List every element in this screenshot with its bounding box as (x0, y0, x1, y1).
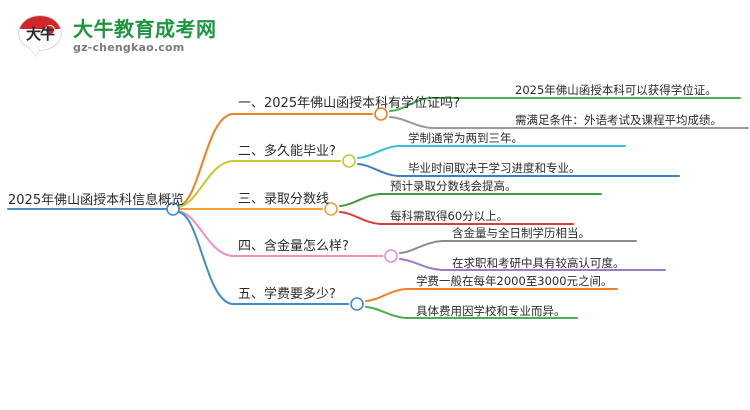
root-node-label[interactable]: 2025年佛山函授本科信息概览 (8, 192, 184, 209)
mindmap-canvas: 2025年佛山函授本科信息概览 一、2025年佛山函授本科有学位证吗? 二、多久… (0, 0, 750, 410)
branch-1-label[interactable]: 一、2025年佛山函授本科有学位证吗? (238, 95, 460, 112)
branch-2-child-1-connector (358, 146, 625, 158)
branch-2-child-2-label[interactable]: 毕业时间取决于学习进度和专业。 (408, 161, 581, 176)
branch-5-child-2-label[interactable]: 具体费用因学校和专业而异。 (416, 304, 566, 319)
branch-4-node-circle[interactable] (385, 250, 397, 262)
branch-5-child-1-connector (366, 289, 617, 301)
branch-2-child-1-label[interactable]: 学制通常为两到三年。 (408, 131, 523, 146)
branch-1-child-1-label[interactable]: 2025年佛山函授本科可以获得学位证。 (515, 83, 717, 98)
branch-5-label[interactable]: 五、学费要多少? (238, 286, 336, 303)
branch-5-node-circle[interactable] (351, 298, 363, 310)
branch-4-child-2-label[interactable]: 在求职和考研中具有较高认可度。 (452, 256, 625, 271)
branch-3-child-1-label[interactable]: 预计录取分数线会提高。 (390, 179, 517, 194)
branch-2-node-circle[interactable] (343, 155, 355, 167)
branch-3-child-1-connector (340, 194, 601, 206)
branch-1-child-2-label[interactable]: 需满足条件：外语考试及课程平均成绩。 (515, 113, 722, 128)
branch-5-child-1-label[interactable]: 学费一般在每年2000至3000元之间。 (416, 274, 613, 289)
branch-3-child-2-label[interactable]: 每科需取得60分以上。 (390, 209, 508, 224)
branch-4-child-1-label[interactable]: 含金量与全日制学历相当。 (452, 226, 590, 241)
branch-4-child-1-connector (400, 241, 636, 253)
branch-4-label[interactable]: 四、含金量怎么样? (238, 238, 349, 255)
branch-2-label[interactable]: 二、多久能毕业? (238, 143, 336, 160)
branch-3-label[interactable]: 三、录取分数线 (238, 191, 329, 208)
